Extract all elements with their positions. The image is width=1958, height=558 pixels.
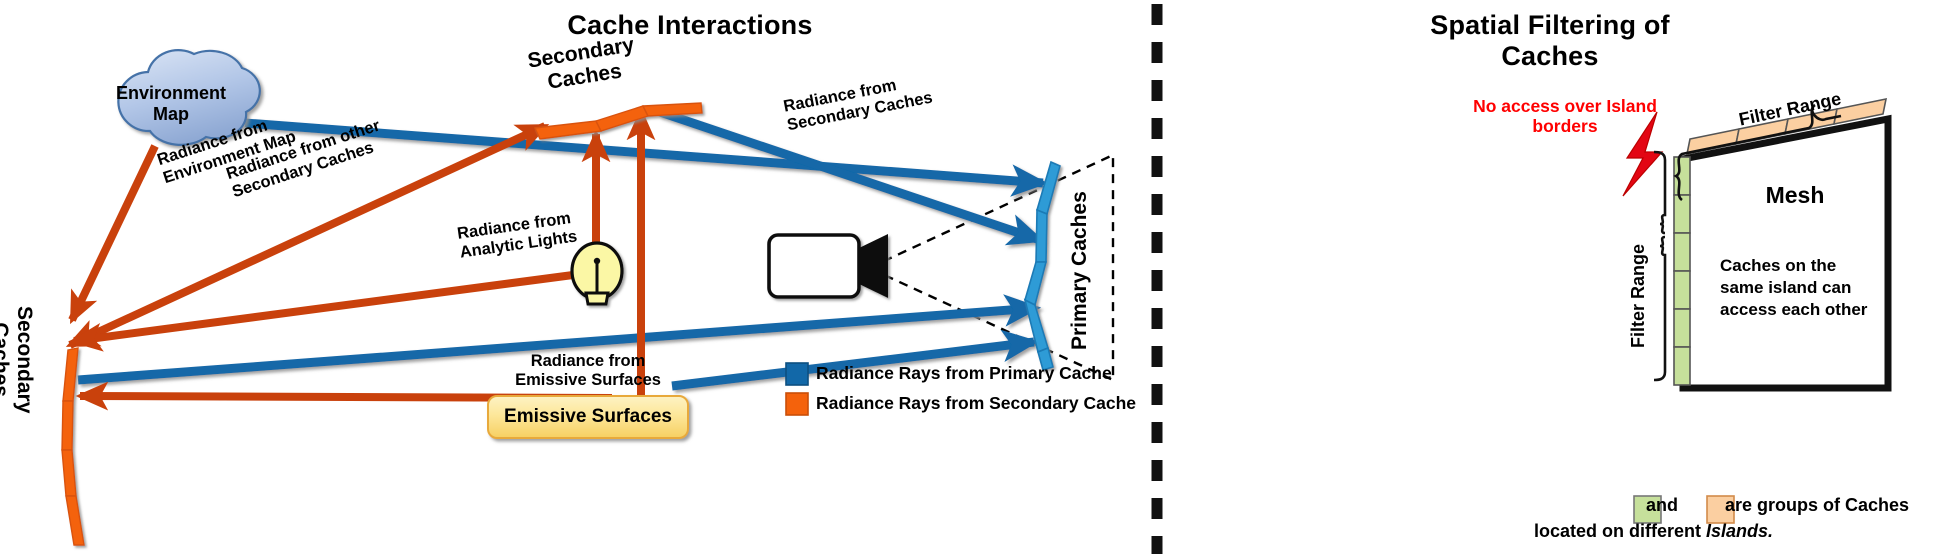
diagram-vector-layer	[0, 0, 1958, 558]
island-border-warning: No access over Islandborders	[1450, 97, 1680, 137]
primary-caches-label: Primary Caches	[1068, 191, 1092, 350]
left-panel-title: Cache Interactions	[380, 10, 1000, 41]
camera-icon	[769, 234, 888, 298]
right-panel-title: Spatial Filtering ofCaches	[1200, 10, 1900, 72]
orange-ray-env-to-left-secondary	[72, 146, 155, 320]
left-legend-swatches	[786, 363, 808, 415]
footer-and-text: and	[1646, 495, 1678, 515]
environment-map-label: EnvironmentMap	[105, 83, 237, 124]
diagram-root: Cache Interactions EnvironmentMap Second…	[0, 0, 1958, 558]
legend-item-primary-label: Radiance Rays from Primary Cache	[816, 364, 1112, 384]
secondary-caches-left-label: SecondaryCaches	[0, 306, 36, 413]
edge-label-emissive-surfaces: Radiance fromEmissive Surfaces	[500, 352, 676, 390]
mesh-note: Caches on thesame island canaccess each …	[1720, 255, 1867, 321]
mesh-body	[1683, 119, 1888, 388]
footer-line2-a: located on different	[1534, 521, 1706, 541]
mesh-label: Mesh	[1715, 182, 1875, 208]
legend-item-secondary-label: Radiance Rays from Secondary Cache	[816, 394, 1136, 414]
green-island-caches	[1674, 157, 1690, 385]
filter-range-left-label: Filter Range	[1628, 244, 1649, 348]
analytic-light-bulb	[572, 243, 622, 304]
footer-tail-text: are groups of Caches	[1725, 495, 1909, 515]
right-legend-footer: andare groups of Caches located on diffe…	[1534, 492, 1954, 544]
footer-line2-b: Islands.	[1706, 521, 1773, 541]
emissive-surfaces-box-label: Emissive Surfaces	[488, 406, 688, 428]
